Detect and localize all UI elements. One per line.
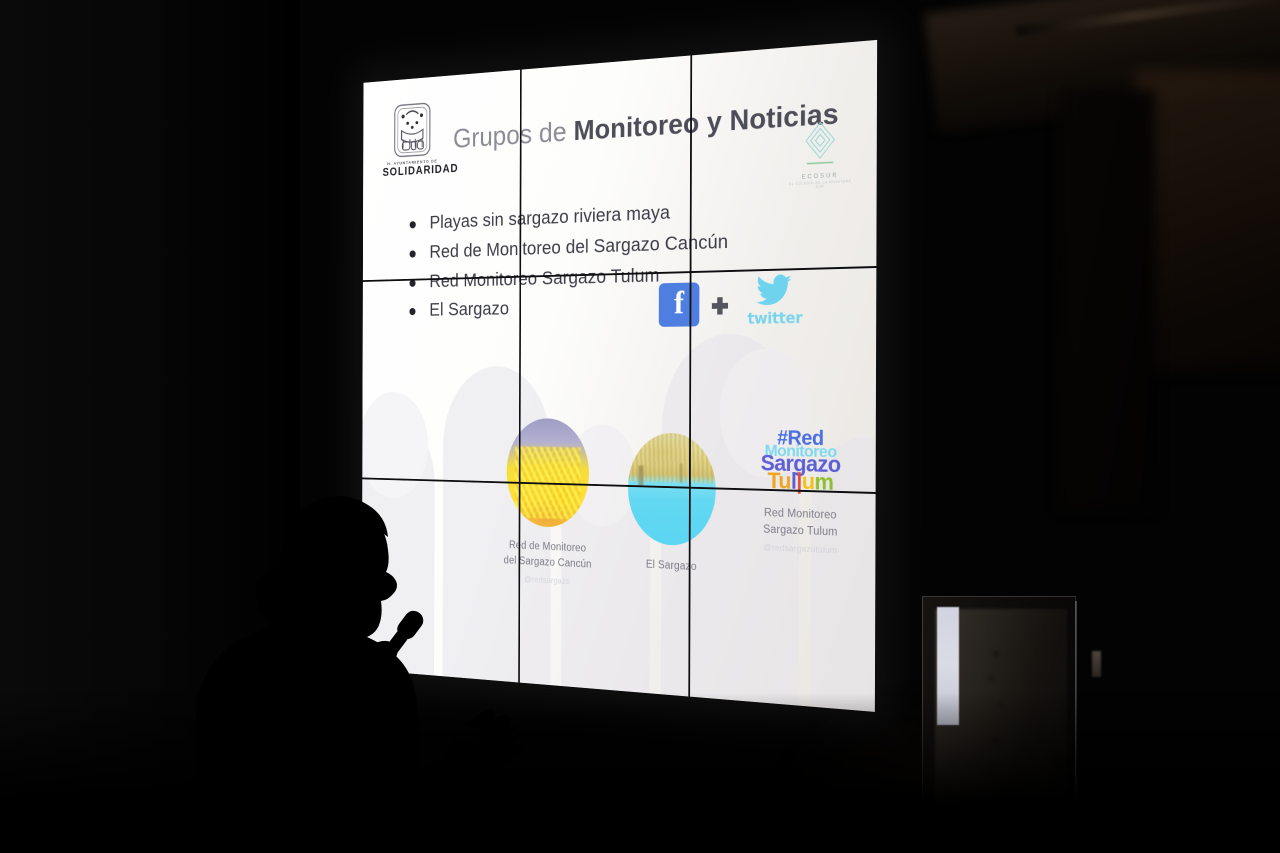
sargassum-beach-photo — [628, 432, 716, 547]
conference-room-scene: H. AYUNTAMIENTO DE SOLIDARIDAD Grupos de… — [0, 0, 1280, 853]
thumbnail-caption: Red Monitoreo Sargazo Tulum @redsargazot… — [722, 504, 877, 560]
solidaridad-logo: H. AYUNTAMIENTO DE SOLIDARIDAD — [383, 99, 443, 178]
facebook-icon[interactable]: f — [659, 282, 700, 327]
room-floor-shadow — [0, 693, 1280, 853]
ecosur-tagline: EL COLEGIO DE LA FRONTERA SUR — [789, 179, 852, 190]
tulum-letter-u: u — [802, 469, 815, 495]
twitter-wordmark: twitter — [741, 308, 810, 328]
mayan-glyph-icon — [392, 100, 432, 159]
solidaridad-wordmark: SOLIDARIDAD — [383, 163, 443, 179]
red-monitoreo-tulum-logo: #Red Monitoreo Sargazo Tul|um — [748, 428, 853, 494]
ecosur-diamond-icon — [799, 118, 841, 172]
thumbnail-tulum[interactable]: #Red Monitoreo Sargazo Tul|um Red Monito… — [722, 422, 877, 560]
twitter-logo[interactable]: twitter — [741, 274, 810, 328]
caption-line-1: Red Monitoreo — [764, 507, 837, 521]
twitter-bird-icon — [756, 274, 793, 308]
caption-line-1: El Sargazo — [646, 559, 697, 573]
plus-icon — [712, 297, 728, 315]
tulum-letter-tu: Tu — [768, 468, 791, 494]
ecosur-logo: ECOSUR EL COLEGIO DE LA FRONTERA SUR — [789, 118, 852, 191]
slide-title-prefix: Grupos de — [453, 116, 574, 154]
wall-light-switch[interactable] — [1092, 651, 1101, 677]
social-icons-row: f twitter — [659, 273, 842, 357]
tulum-letter-m: m — [814, 469, 833, 495]
